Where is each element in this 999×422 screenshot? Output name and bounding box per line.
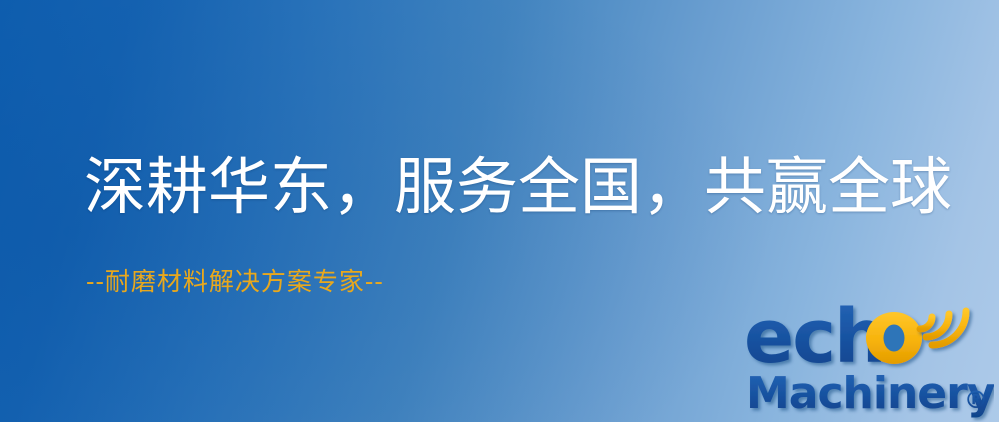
svg-text:Machinery: Machinery [746, 368, 994, 419]
hero-banner: 深耕华东，服务全国，共赢全球 --耐磨材料解决方案专家-- [0, 0, 999, 422]
gold-o-icon [866, 312, 922, 364]
banner-headline: 深耕华东，服务全国，共赢全球 [84, 150, 952, 224]
logo-subbrand: Machinery ® [746, 368, 994, 419]
echo-machinery-logo[interactable]: ech Machinery ® echo Machinery ® [742, 296, 994, 422]
svg-text:®: ® [964, 386, 988, 414]
banner-subtitle: --耐磨材料解决方案专家-- [86, 266, 384, 298]
signal-wave-icon [920, 311, 966, 345]
